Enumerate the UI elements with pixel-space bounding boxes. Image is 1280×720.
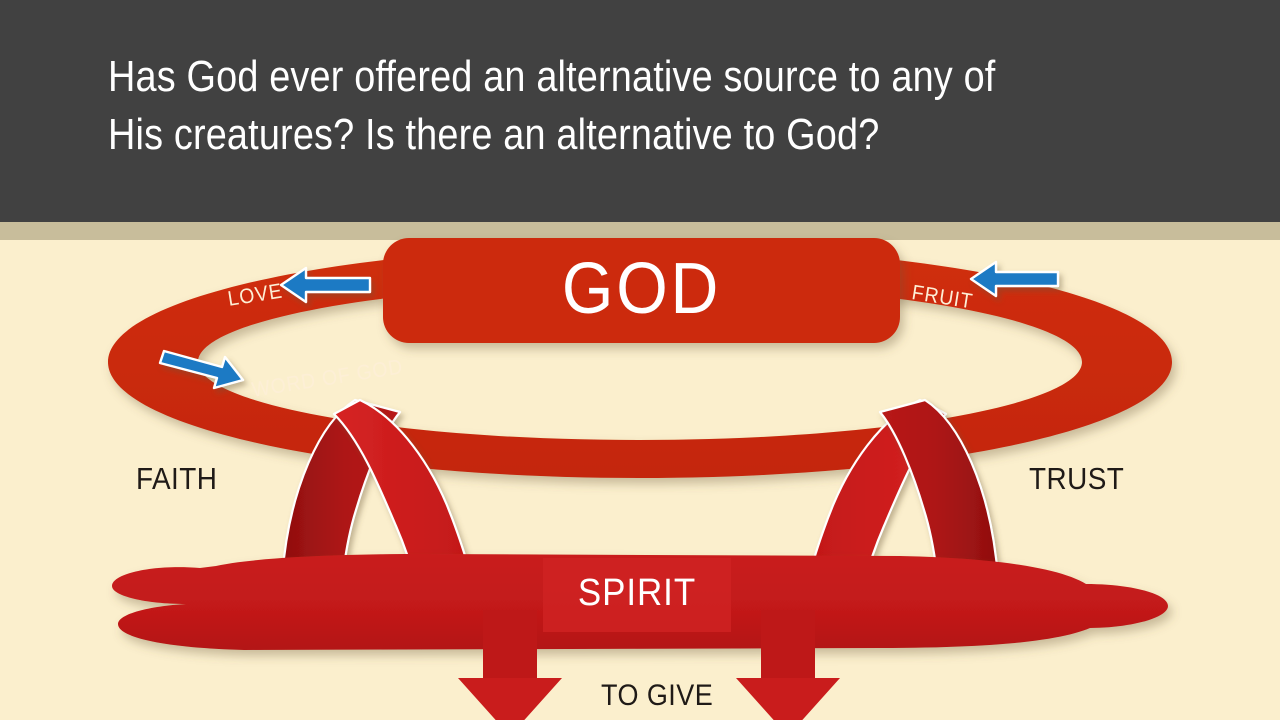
diagram-area (0, 228, 1280, 720)
god-node (383, 238, 900, 343)
slide-canvas: Has God ever offered an alternative sour… (0, 0, 1280, 720)
header-band (0, 0, 1280, 222)
spirit-plaque (543, 558, 731, 632)
